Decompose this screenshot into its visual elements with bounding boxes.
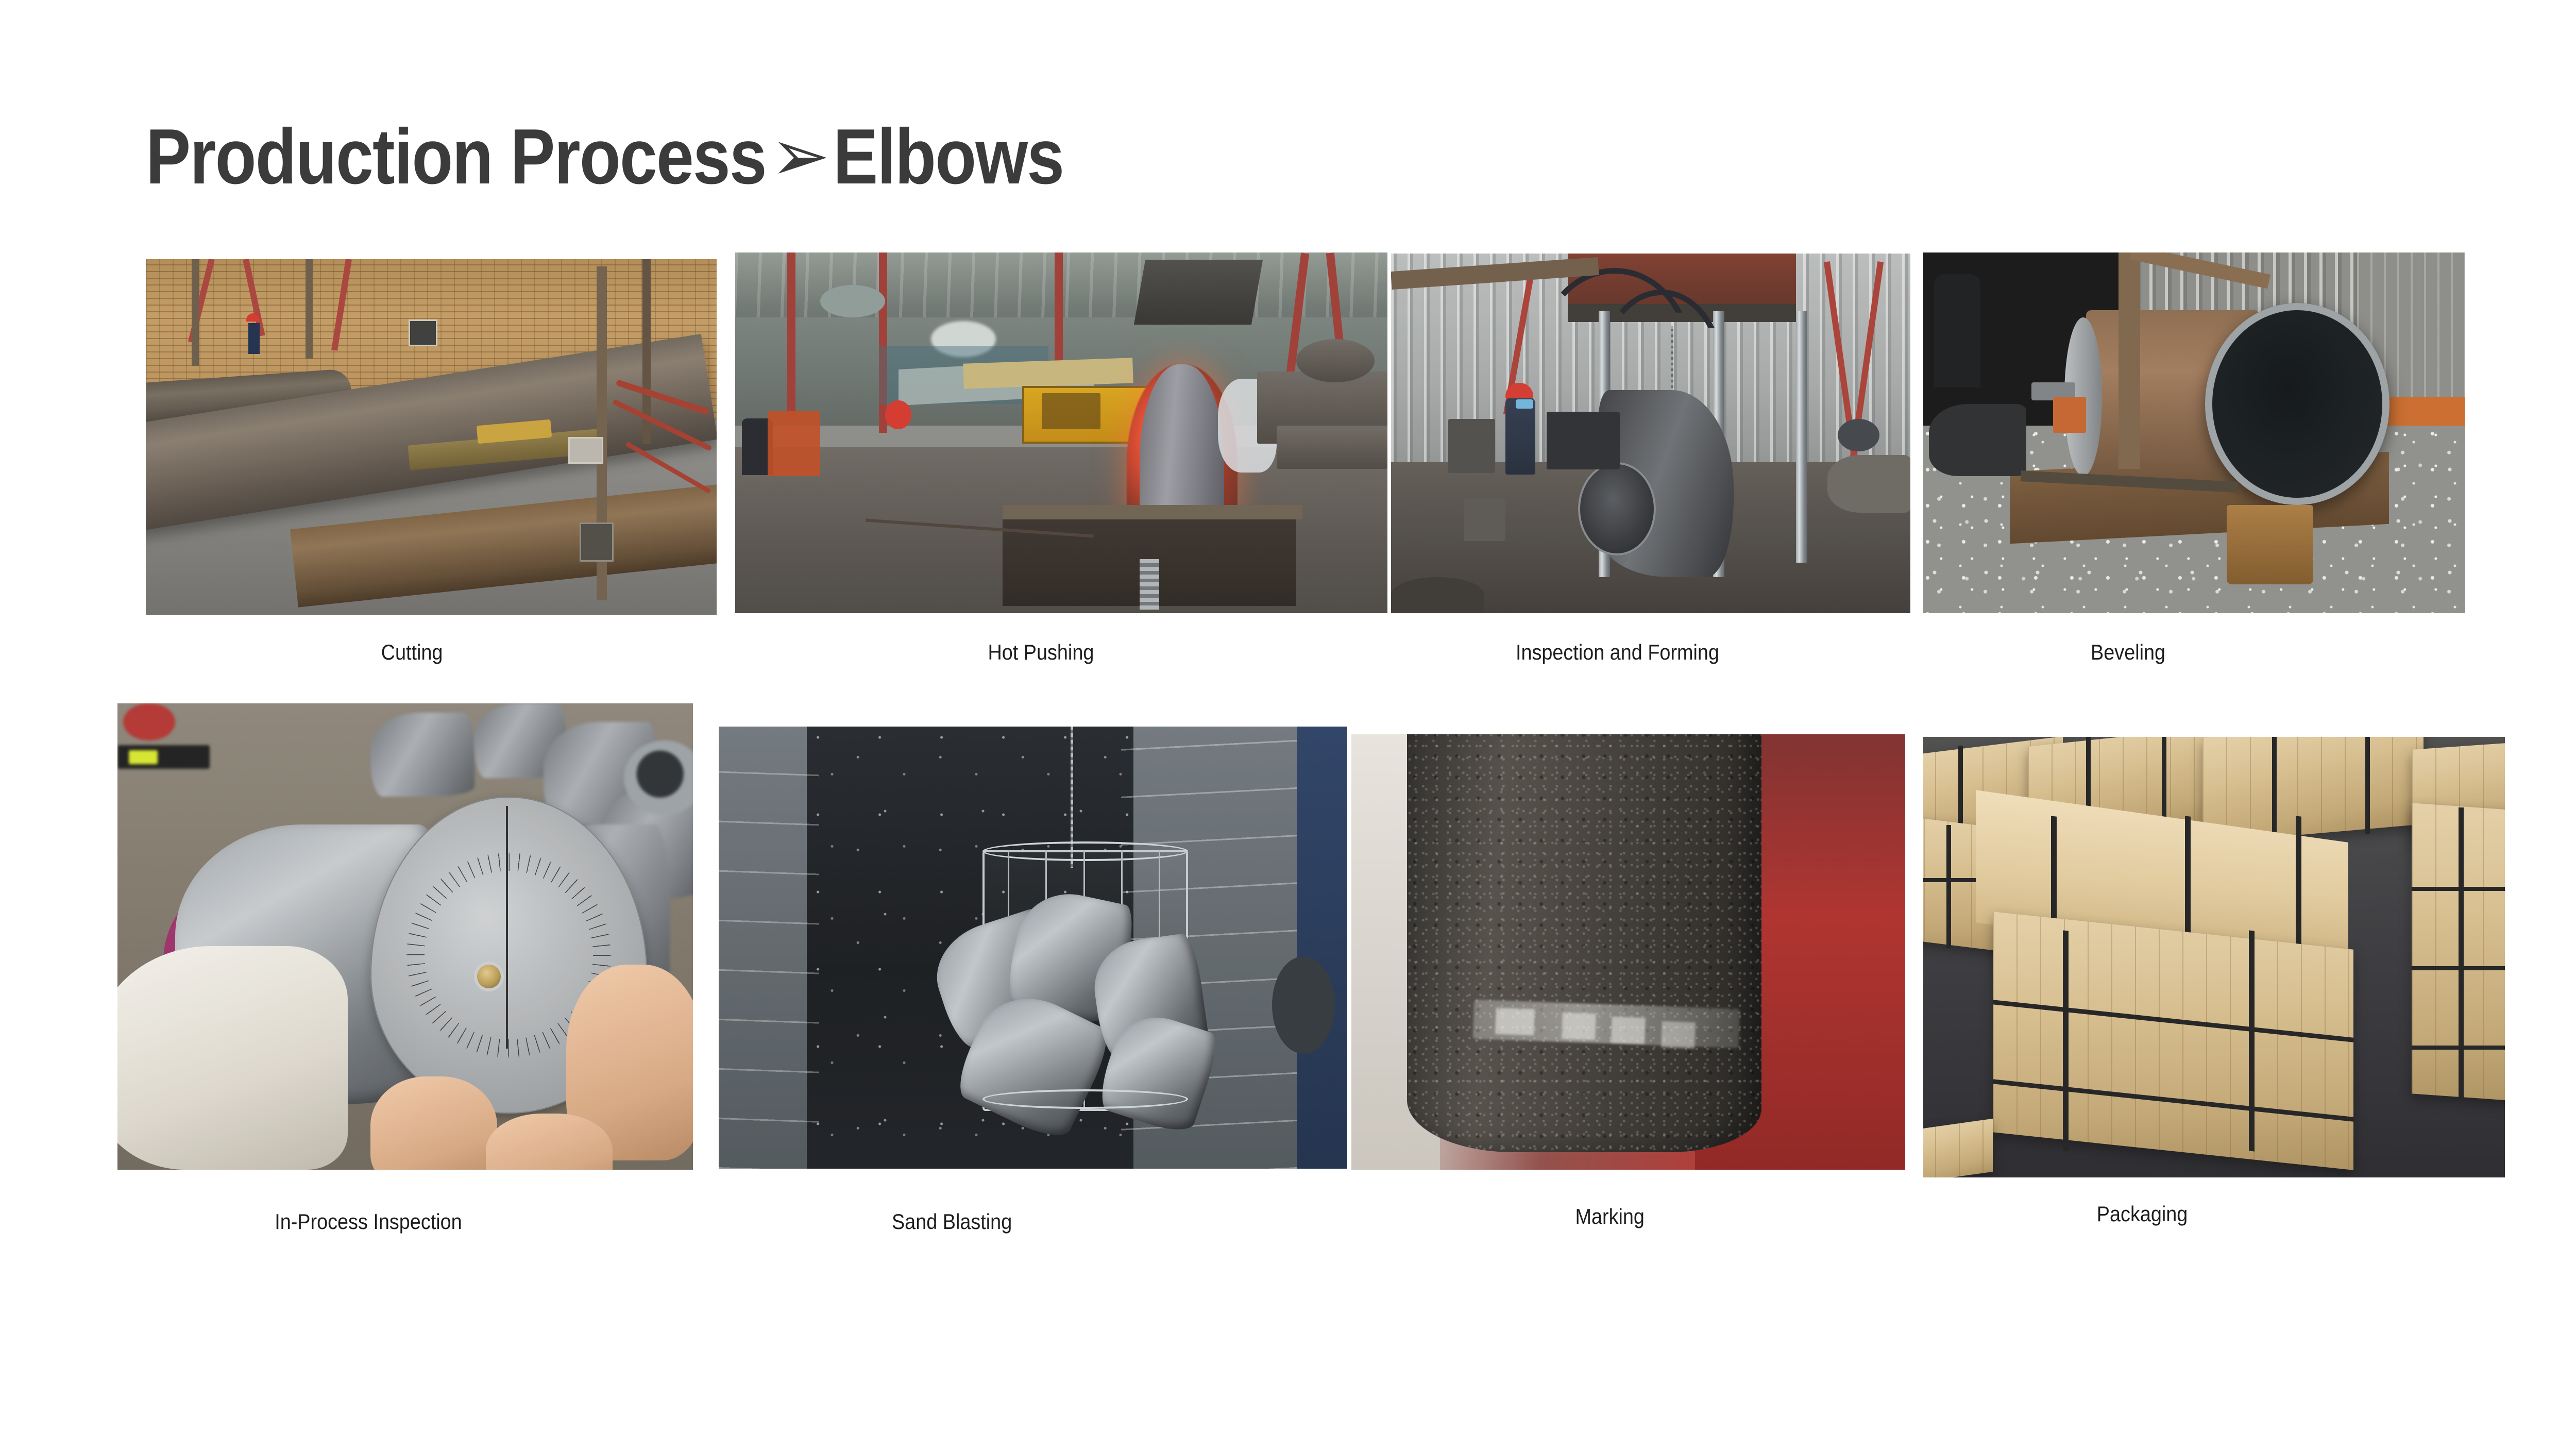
photo-hot-pushing xyxy=(735,252,1387,613)
photo-sand-blasting xyxy=(719,727,1347,1169)
caption-sand-blasting: Sand Blasting xyxy=(892,1209,1012,1234)
page-title: Production Process➢Elbows xyxy=(146,117,1063,196)
photo-inspection-and-forming xyxy=(1391,254,1910,613)
page-title-primary: Production Process xyxy=(146,113,766,200)
caption-inspection-and-forming: Inspection and Forming xyxy=(1516,640,1719,665)
photo-packaging xyxy=(1923,737,2505,1177)
caption-packaging: Packaging xyxy=(2097,1202,2188,1226)
caption-beveling: Beveling xyxy=(2091,640,2165,665)
photo-beveling xyxy=(1923,252,2465,613)
caption-hot-pushing: Hot Pushing xyxy=(988,640,1094,665)
process-tile-beveling[interactable] xyxy=(1923,252,2465,613)
caption-marking: Marking xyxy=(1575,1204,1644,1229)
process-tile-inspection-and-forming[interactable] xyxy=(1391,254,1910,613)
process-tile-sand-blasting[interactable] xyxy=(719,727,1347,1169)
process-tile-cutting[interactable] xyxy=(146,259,717,615)
caption-cutting: Cutting xyxy=(381,640,443,665)
photo-marking xyxy=(1351,734,1905,1170)
caption-in-process-inspection: In-Process Inspection xyxy=(275,1209,462,1234)
photo-cutting xyxy=(146,259,717,615)
arrow-right-icon: ➢ xyxy=(761,120,838,192)
process-tile-marking[interactable] xyxy=(1351,734,1905,1170)
process-tile-in-process-inspection[interactable] xyxy=(117,703,693,1170)
process-tile-packaging[interactable] xyxy=(1923,737,2505,1177)
page-title-secondary: Elbows xyxy=(833,113,1063,200)
process-tile-hot-pushing[interactable] xyxy=(735,252,1387,613)
photo-in-process-inspection xyxy=(117,703,693,1170)
